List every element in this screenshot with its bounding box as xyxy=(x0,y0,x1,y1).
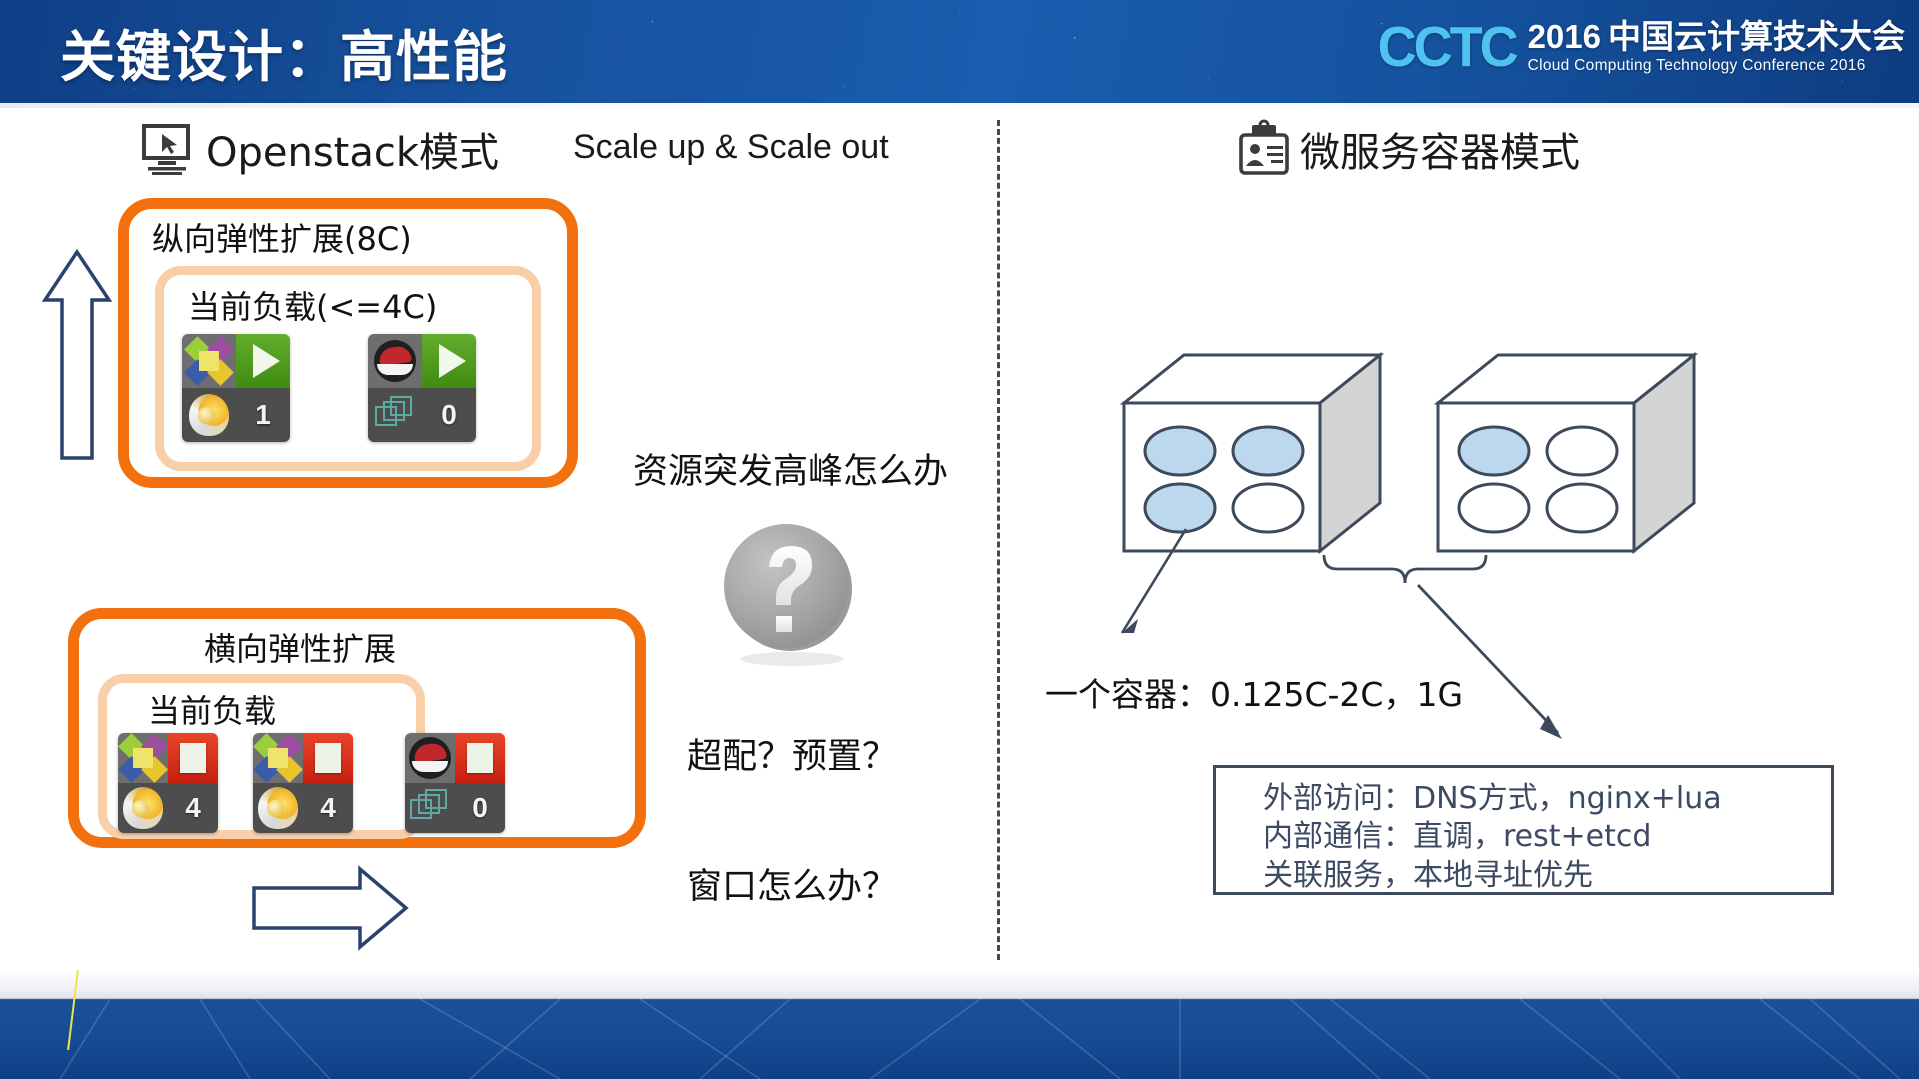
info-line-internal: 内部通信：直调，rest+etcd xyxy=(1263,818,1831,856)
horizontal-current-load-label: 当前负载 xyxy=(148,686,276,732)
redhat-icon xyxy=(409,737,451,779)
logo-name-en: Cloud Computing Technology Conference 20… xyxy=(1528,58,1905,74)
info-line-external: 外部访问：DNS方式，nginx+lua xyxy=(1263,780,1831,818)
vm-tile[interactable]: 1 xyxy=(182,334,290,442)
cctc-logo: CCTC 2016中国云计算技术大会 Cloud Computing Techn… xyxy=(1378,16,1905,78)
layers-icon xyxy=(375,396,415,434)
stop-icon xyxy=(315,743,341,773)
vm-count: 0 xyxy=(472,792,488,824)
host-brace xyxy=(1324,555,1486,583)
question-window: 窗口怎么办？ xyxy=(687,858,897,909)
vm-count-cell: 4 xyxy=(168,783,218,833)
question-overcommit: 超配？预置？ xyxy=(687,728,897,779)
slide-root: 关键设计：高性能 CCTC 2016中国云计算技术大会 Cloud Comput… xyxy=(0,0,1919,1079)
centos-icon xyxy=(186,338,232,384)
logo-year: 2016 xyxy=(1528,18,1601,55)
vm-badge-cell xyxy=(368,388,422,442)
left-panel-heading: Openstack模式 xyxy=(140,120,499,178)
right-panel-title: 微服务容器模式 xyxy=(1300,120,1580,178)
vm-stop-cell[interactable] xyxy=(168,733,218,783)
vm-count: 4 xyxy=(185,792,201,824)
footer-line-pattern xyxy=(0,999,1919,1079)
layers-icon xyxy=(410,789,450,827)
vm-start-cell[interactable] xyxy=(422,334,476,388)
vm-badge-cell xyxy=(182,388,236,442)
right-arrow xyxy=(250,863,410,953)
info-line-related: 关联服务，本地寻址优先 xyxy=(1263,857,1831,895)
vm-count: 1 xyxy=(255,399,271,431)
scale-note: Scale up & Scale out xyxy=(573,128,889,167)
slide-footer xyxy=(0,970,1919,1079)
vm-tile[interactable]: 4 xyxy=(253,733,353,833)
monitor-cursor-icon xyxy=(140,123,196,175)
vm-count-cell: 0 xyxy=(455,783,505,833)
vm-count: 4 xyxy=(320,792,336,824)
question-mark-badge xyxy=(720,523,865,668)
host-box-2 xyxy=(1438,355,1694,551)
container-spec-note: 一个容器：0.125C-2C，1G xyxy=(1045,668,1463,716)
host-box-1 xyxy=(1124,355,1380,551)
flame-icon xyxy=(123,787,163,829)
cctc-wordmark: CCTC xyxy=(1378,14,1516,79)
vm-badge-cell xyxy=(405,783,455,833)
vm-tile[interactable]: 0 xyxy=(405,733,505,833)
os-logo-cell xyxy=(118,733,168,783)
vm-start-cell[interactable] xyxy=(236,334,290,388)
flame-icon xyxy=(189,394,229,436)
vm-stop-cell[interactable] xyxy=(455,733,505,783)
left-panel-title: Openstack模式 xyxy=(206,120,499,178)
vm-count-cell: 4 xyxy=(303,783,353,833)
os-logo-cell xyxy=(182,334,236,388)
centos-icon xyxy=(255,735,301,781)
vm-tile[interactable]: 0 xyxy=(368,334,476,442)
vm-count-cell: 1 xyxy=(236,388,290,442)
up-arrow xyxy=(42,248,112,463)
redhat-icon xyxy=(374,340,416,382)
vm-stop-cell[interactable] xyxy=(303,733,353,783)
logo-text-block: 2016中国云计算技术大会 Cloud Computing Technology… xyxy=(1528,20,1905,74)
centos-icon xyxy=(120,735,166,781)
vertical-current-load-label: 当前负载(<=4C) xyxy=(188,282,437,328)
page-title: 关键设计：高性能 xyxy=(60,12,508,92)
play-icon xyxy=(253,344,280,378)
vm-badge-cell xyxy=(118,783,168,833)
vm-badge-cell xyxy=(253,783,303,833)
horizontal-scaling-label: 横向弹性扩展 xyxy=(204,624,396,670)
right-panel-heading: 微服务容器模式 xyxy=(1238,120,1580,178)
vm-tile[interactable]: 4 xyxy=(118,733,218,833)
stop-icon xyxy=(467,743,493,773)
flame-icon xyxy=(258,787,298,829)
service-info-box: 外部访问：DNS方式，nginx+lua 内部通信：直调，rest+etcd 关… xyxy=(1213,765,1834,895)
id-badge-icon xyxy=(1238,121,1290,177)
os-logo-cell xyxy=(405,733,455,783)
host-boxes-diagram xyxy=(1120,333,1840,803)
os-logo-cell xyxy=(253,733,303,783)
os-logo-cell xyxy=(368,334,422,388)
question-resource-burst: 资源突发高峰怎么办 xyxy=(633,443,948,494)
play-icon xyxy=(439,344,466,378)
logo-name-cn: 中国云计算技术大会 xyxy=(1608,18,1905,55)
slide-body: Openstack模式 Scale up & Scale out 纵向弹性扩展(… xyxy=(0,108,1919,970)
slide-header: 关键设计：高性能 CCTC 2016中国云计算技术大会 Cloud Comput… xyxy=(0,0,1919,108)
stop-icon xyxy=(180,743,206,773)
logo-title-cn: 2016中国云计算技术大会 xyxy=(1528,20,1905,53)
vm-count-cell: 0 xyxy=(422,388,476,442)
vm-count: 0 xyxy=(441,399,457,431)
panel-divider xyxy=(997,120,1000,960)
vertical-scaling-label: 纵向弹性扩展(8C) xyxy=(152,214,412,260)
